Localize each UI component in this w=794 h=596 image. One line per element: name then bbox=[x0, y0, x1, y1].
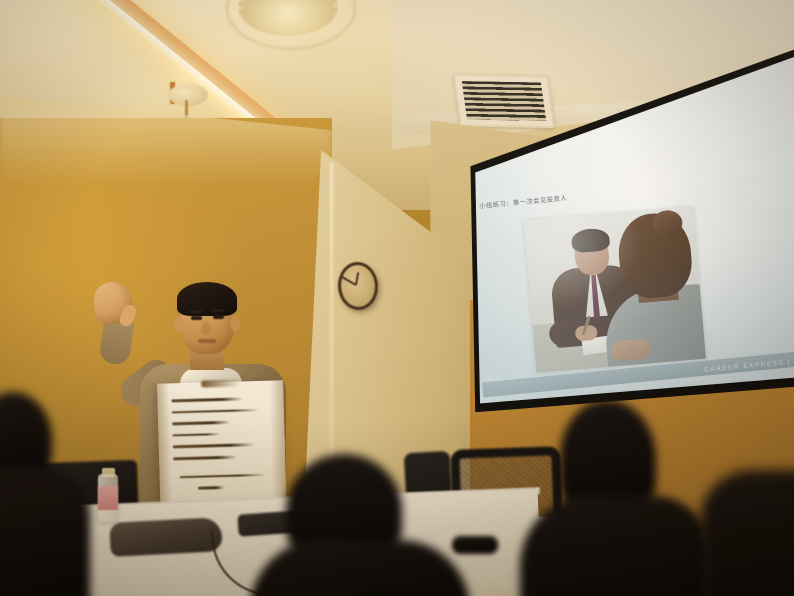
water-bottle-label bbox=[98, 486, 118, 510]
presenter-nose bbox=[202, 322, 210, 335]
slide-photo bbox=[524, 206, 706, 373]
ceiling-disc-fixture-icon bbox=[168, 84, 208, 106]
photo-scene: 小组练习：第一次会见投资人 bbox=[0, 0, 794, 596]
flipchart-line bbox=[172, 433, 220, 437]
presenter-mouth bbox=[198, 339, 216, 343]
flipchart-line bbox=[198, 486, 224, 489]
presenter-eye-right bbox=[213, 315, 224, 319]
slide-photo-light-wash bbox=[524, 206, 706, 373]
presenter-eyebrow-left bbox=[189, 310, 203, 313]
presenter-eye-left bbox=[191, 316, 202, 320]
flipchart-line bbox=[171, 397, 243, 402]
presenter-ear-right bbox=[230, 316, 240, 332]
attendee-left-body bbox=[0, 468, 90, 596]
attendee-right-body bbox=[520, 496, 710, 596]
hvac-supply-vent-icon bbox=[453, 74, 555, 128]
attendee-far-right bbox=[700, 470, 794, 596]
flipchart-line bbox=[172, 421, 230, 425]
flipchart-line bbox=[173, 443, 255, 448]
presenter-eyebrow-right bbox=[211, 309, 225, 312]
clock-minute-hand bbox=[341, 276, 356, 285]
flipchart-top-mark bbox=[201, 379, 241, 387]
presenter-thumb bbox=[118, 303, 138, 328]
flipchart-line bbox=[172, 409, 260, 414]
presenter-raised-hand bbox=[92, 280, 134, 326]
equipment-bag bbox=[109, 517, 223, 557]
flipchart-handwriting bbox=[171, 397, 274, 500]
slide-title: 小组练习：第一次会见投资人 bbox=[479, 193, 568, 210]
foreground-object bbox=[452, 536, 498, 554]
hvac-vent-louvers bbox=[462, 81, 547, 121]
flipchart-line bbox=[180, 473, 266, 478]
flipchart-line bbox=[173, 456, 237, 460]
presenter-hair bbox=[177, 282, 237, 316]
presenter-ear-left bbox=[174, 316, 184, 332]
slide-footer-separator: | bbox=[787, 359, 791, 366]
